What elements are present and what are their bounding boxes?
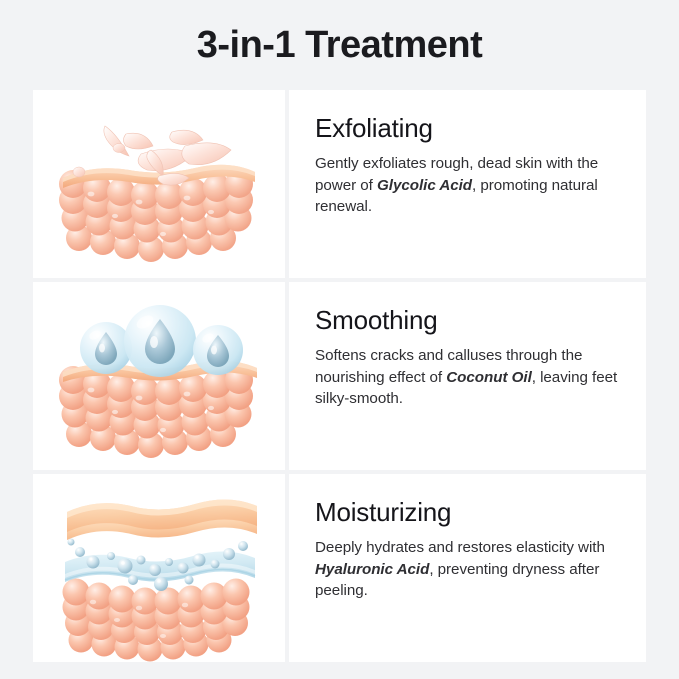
water-capsule-center: [124, 305, 196, 377]
skin-flaking-illustration: [33, 90, 285, 278]
skin-cell-cluster: [63, 579, 250, 662]
card-body-moisturizing: Deeply hydrates and restores elasticity …: [315, 537, 622, 602]
page-title: 3-in-1 Treatment: [0, 22, 679, 68]
water-capsule-left: [80, 322, 132, 374]
illustration-cell-smoothing: [33, 282, 285, 470]
text-cell-exfoliating: Exfoliating Gently exfoliates rough, dea…: [289, 90, 646, 278]
water-capsule-right: [193, 325, 243, 375]
water-capsules-illustration: [33, 282, 285, 470]
card-heading-smoothing: Smoothing: [315, 304, 622, 336]
feature-grid: Exfoliating Gently exfoliates rough, dea…: [33, 90, 646, 662]
card-body-exfoliating: Gently exfoliates rough, dead skin with …: [315, 153, 622, 218]
body-lead: Deeply hydrates and restores elasticity …: [315, 539, 605, 556]
ingredient-name: Hyaluronic Acid: [315, 561, 429, 578]
card-heading-moisturizing: Moisturizing: [315, 496, 622, 528]
card-body-smoothing: Softens cracks and calluses through the …: [315, 345, 622, 410]
skin-surface-sheets: [67, 499, 257, 540]
text-cell-smoothing: Smoothing Softens cracks and calluses th…: [289, 282, 646, 470]
infographic-page: 3-in-1 Treatment: [0, 0, 679, 679]
ingredient-name: Glycolic Acid: [377, 177, 472, 194]
card-heading-exfoliating: Exfoliating: [315, 112, 622, 144]
layered-hydration-illustration: [33, 474, 285, 662]
ingredient-name: Coconut Oil: [446, 369, 532, 386]
text-cell-moisturizing: Moisturizing Deeply hydrates and restore…: [289, 474, 646, 662]
illustration-cell-moisturizing: [33, 474, 285, 662]
illustration-cell-exfoliating: [33, 90, 285, 278]
